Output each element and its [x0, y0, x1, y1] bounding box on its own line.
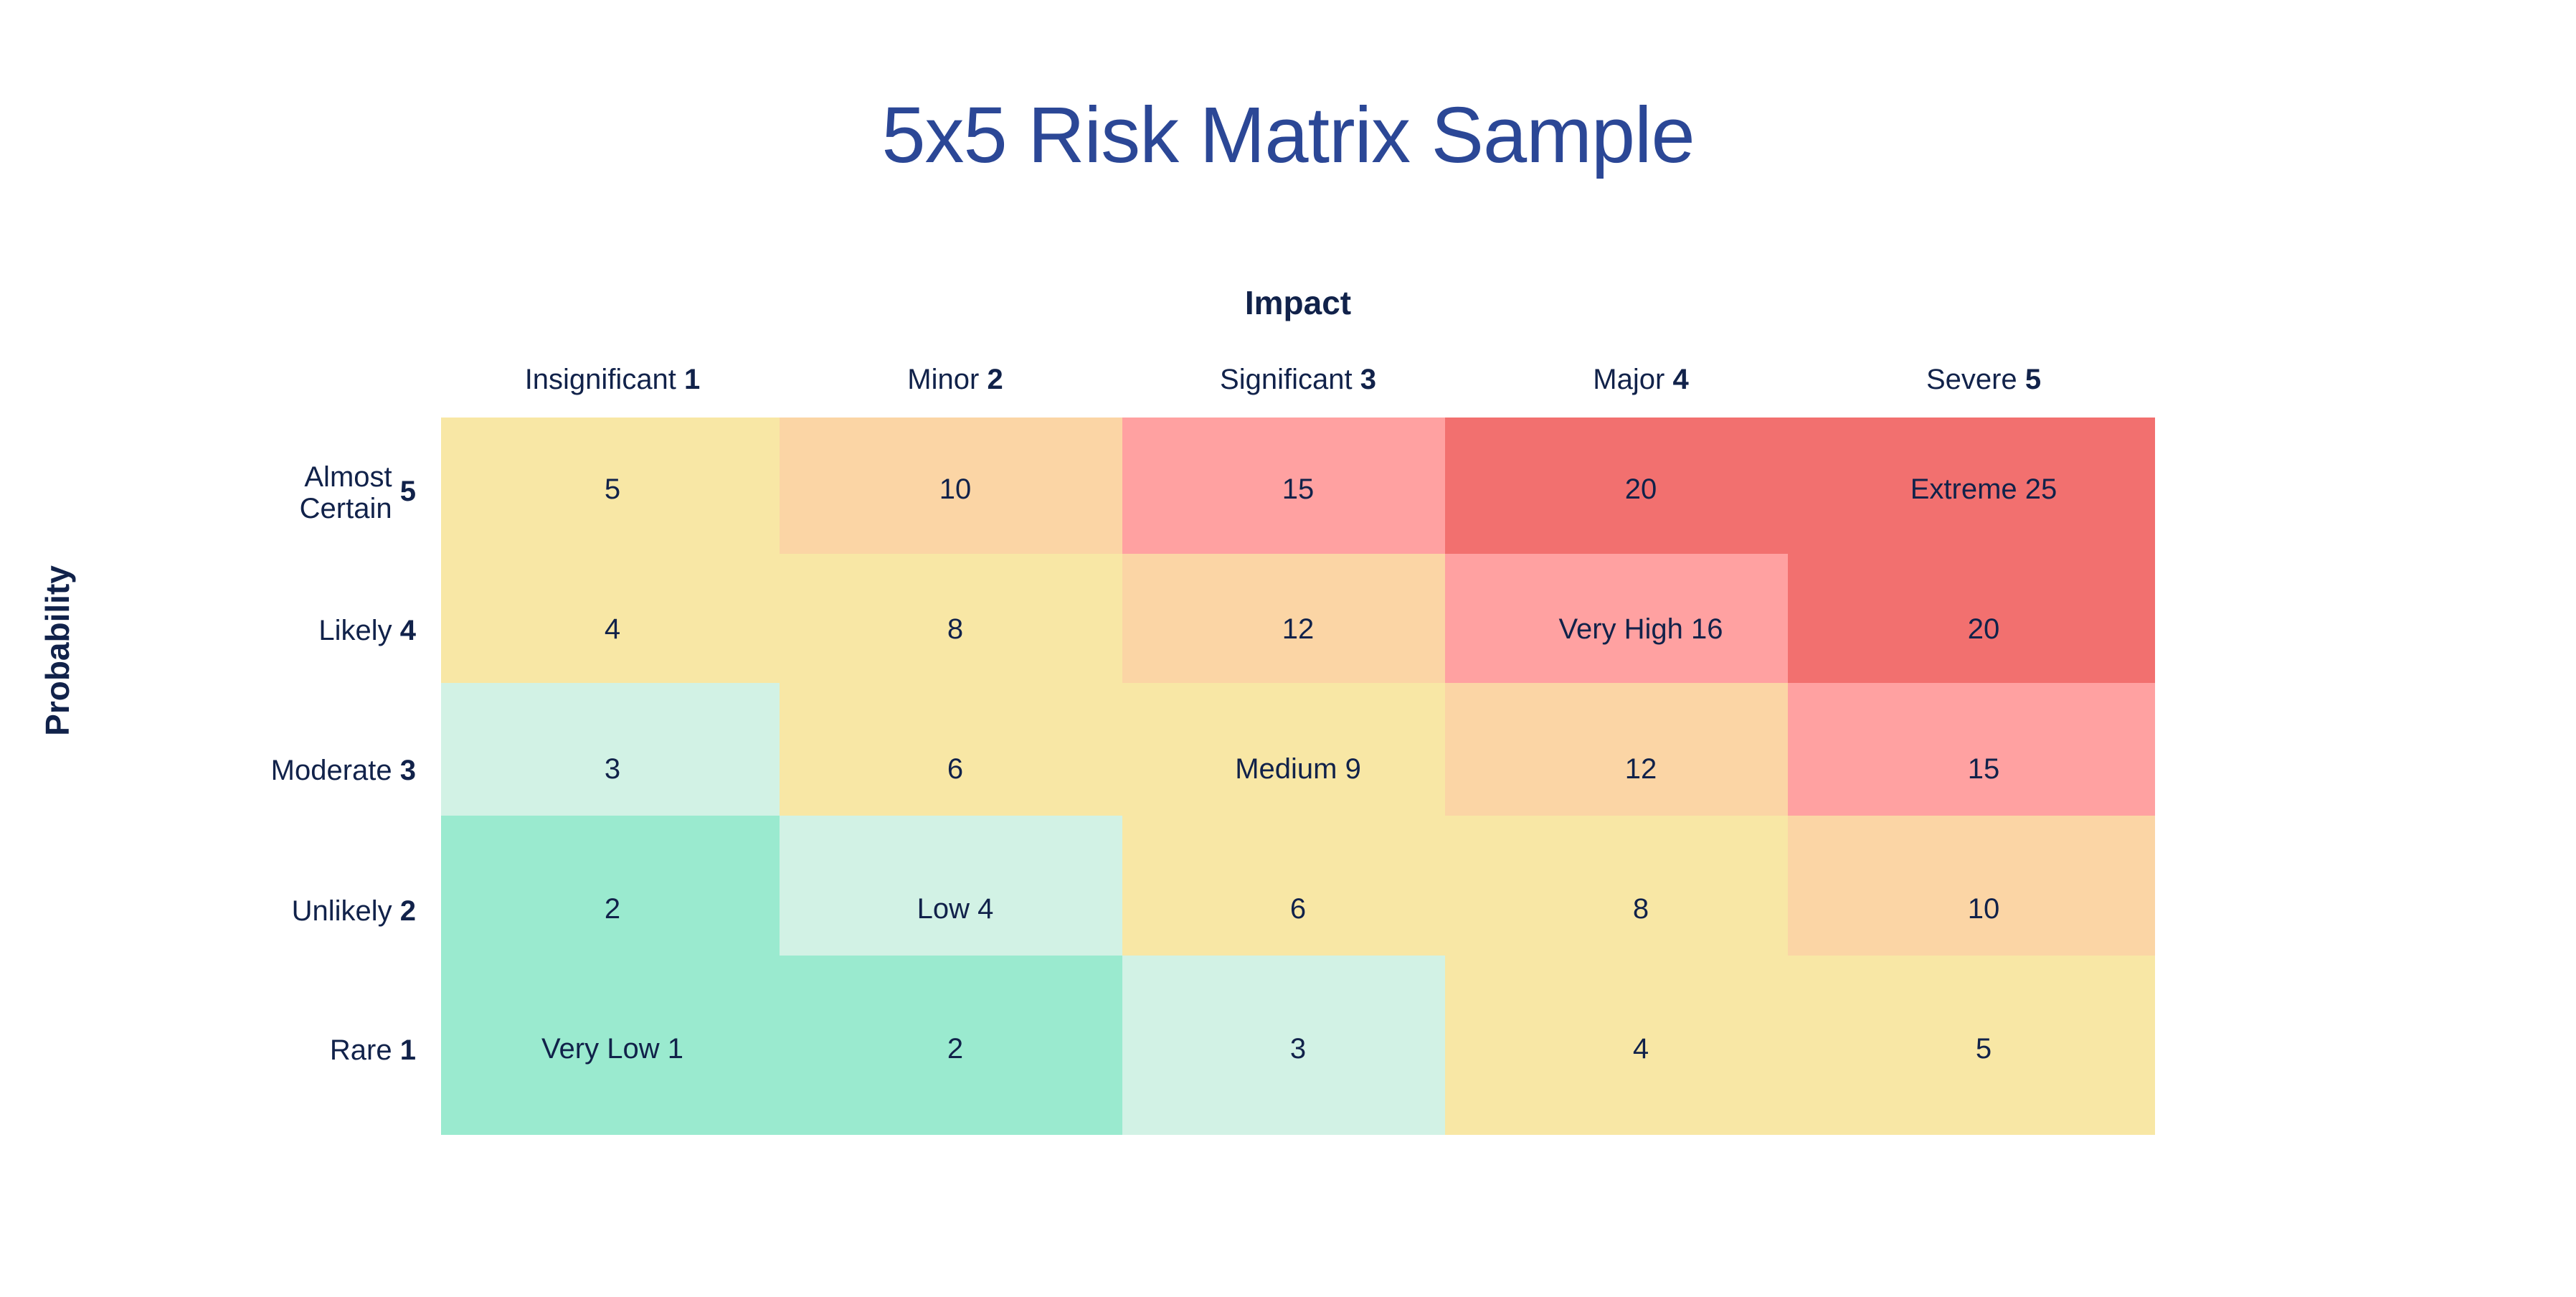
row-header-rare: Rare 1	[72, 1033, 416, 1067]
row-header-label: Moderate	[271, 755, 392, 786]
column-header-value: 3	[1360, 364, 1376, 395]
matrix-cell-text: Very High 16	[1558, 613, 1723, 646]
matrix-cell-text: 6	[1290, 893, 1306, 925]
matrix-cell[interactable]: 12	[1127, 593, 1469, 665]
column-header-value: 2	[987, 364, 1003, 395]
column-header-major: Major 4	[1469, 362, 1812, 397]
matrix-cell[interactable]: 5	[441, 453, 784, 525]
row-header-value: 3	[400, 755, 416, 786]
matrix-cell-text: 8	[1633, 893, 1649, 925]
risk-matrix-grid: 5 10 15 20 Extreme 25 4 8 12 Very High 1…	[441, 418, 2155, 1135]
matrix-cell[interactable]: Very High 16	[1469, 593, 1812, 665]
matrix-cell[interactable]: 2	[784, 1013, 1127, 1085]
matrix-cell[interactable]: Extreme 25	[1812, 453, 2155, 525]
row-header-value: 5	[400, 476, 416, 507]
matrix-cell[interactable]: 12	[1469, 733, 1812, 805]
row-header-value: 1	[400, 1034, 416, 1066]
matrix-cell[interactable]: 6	[784, 733, 1127, 805]
matrix-cell[interactable]: Very Low 1	[441, 1013, 784, 1085]
column-header-significant: Significant 3	[1127, 362, 1469, 397]
column-header-severe: Severe 5	[1812, 362, 2155, 397]
row-header-label: Unlikely	[292, 895, 392, 927]
row-header-label: Likely	[318, 615, 392, 646]
matrix-cell[interactable]: 4	[441, 593, 784, 665]
matrix-cell[interactable]: 20	[1812, 593, 2155, 665]
matrix-cell-text: 15	[1282, 473, 1315, 506]
matrix-cell-text: 15	[1968, 753, 2000, 786]
matrix-cell-text: 20	[1625, 473, 1657, 506]
row-header-label-line1: Almost	[304, 461, 392, 493]
matrix-cell[interactable]: 3	[441, 733, 784, 805]
matrix-cell[interactable]: 4	[1469, 1013, 1812, 1085]
row-header-almost-certain: AlmostCertain 5	[72, 459, 416, 524]
column-header-value: 4	[1672, 364, 1688, 395]
matrix-cell[interactable]: 3	[1127, 1013, 1469, 1085]
column-header-value: 1	[684, 364, 700, 395]
row-header-label: AlmostCertain	[300, 461, 392, 526]
matrix-cell-text: 20	[1968, 613, 2000, 646]
color-band	[1445, 956, 2155, 1020]
row-header-unlikely: Unlikely 2	[72, 894, 416, 928]
matrix-cell-text: 4	[605, 613, 620, 646]
matrix-cell[interactable]: 8	[784, 593, 1127, 665]
matrix-cell[interactable]: 10	[784, 453, 1127, 525]
column-header-insignificant: Insignificant 1	[441, 362, 784, 397]
matrix-cell[interactable]: 6	[1127, 873, 1469, 945]
matrix-cell-text: 2	[605, 893, 620, 925]
column-header-label: Severe	[1926, 364, 2017, 395]
color-band	[441, 956, 1122, 1020]
matrix-cell[interactable]: Medium 9	[1127, 733, 1469, 805]
page-title: 5x5 Risk Matrix Sample	[0, 92, 2576, 179]
matrix-cell-text: 5	[1976, 1033, 1992, 1065]
matrix-cell-text: 10	[1968, 893, 2000, 925]
row-header-label: Rare	[330, 1034, 392, 1066]
column-header-label: Major	[1593, 364, 1665, 395]
row-header-value: 2	[400, 895, 416, 927]
matrix-cell-text: 3	[1290, 1033, 1306, 1065]
matrix-cell-text: 3	[605, 753, 620, 786]
matrix-cell[interactable]: 20	[1469, 453, 1812, 525]
matrix-cell-text: 8	[947, 613, 963, 646]
column-header-minor: Minor 2	[784, 362, 1127, 397]
matrix-cell[interactable]: 5	[1812, 1013, 2155, 1085]
matrix-cell-text: 2	[947, 1033, 963, 1065]
matrix-cell-text: Medium 9	[1235, 753, 1361, 786]
matrix-cell[interactable]: 2	[441, 873, 784, 945]
matrix-cell-text: 10	[939, 473, 972, 506]
matrix-cell-text: Low 4	[917, 893, 994, 925]
column-header-label: Insignificant	[525, 364, 676, 395]
risk-matrix-page: 5x5 Risk Matrix Sample Impact Probabilit…	[0, 0, 2576, 1297]
matrix-cell[interactable]: 15	[1127, 453, 1469, 525]
column-header-value: 5	[2025, 364, 2041, 395]
matrix-cell-text: Extreme 25	[1910, 473, 2058, 506]
matrix-cell-text: Very Low 1	[541, 1033, 683, 1065]
column-header-label: Minor	[907, 364, 979, 395]
row-header-moderate: Moderate 3	[72, 753, 416, 788]
y-axis-label: Probability	[38, 500, 77, 801]
column-header-label: Significant	[1220, 364, 1353, 395]
matrix-cell[interactable]: 8	[1469, 873, 1812, 945]
row-header-value: 4	[400, 615, 416, 646]
matrix-cell-text: 5	[605, 473, 620, 506]
matrix-cell-text: 12	[1625, 753, 1657, 786]
matrix-cell[interactable]: 10	[1812, 873, 2155, 945]
row-header-likely: Likely 4	[72, 613, 416, 648]
matrix-cell[interactable]: 15	[1812, 733, 2155, 805]
color-band	[1122, 956, 1445, 1020]
matrix-cell-text: 4	[1633, 1033, 1649, 1065]
x-axis-label: Impact	[441, 283, 2155, 322]
matrix-cell-text: 12	[1282, 613, 1315, 646]
matrix-cell-text: 6	[947, 753, 963, 786]
matrix-cell[interactable]: Low 4	[784, 873, 1127, 945]
row-header-label-line2: Certain	[300, 493, 392, 524]
